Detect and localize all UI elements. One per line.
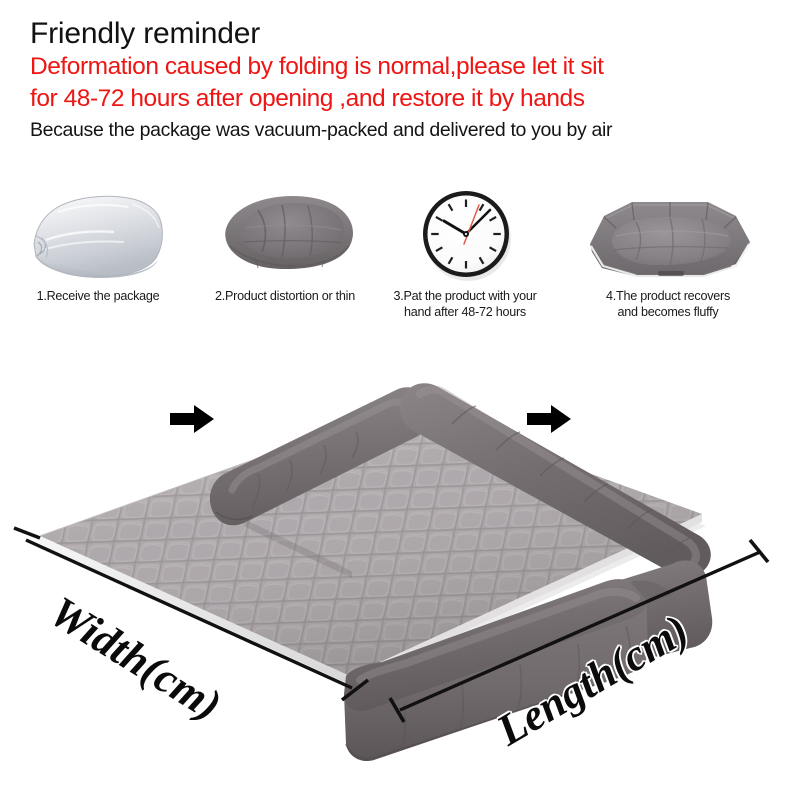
wall-clock-icon xyxy=(418,182,514,286)
header-text-block: Friendly reminder Deformation caused by … xyxy=(30,16,775,143)
vacuum-packed-bag-icon xyxy=(28,190,170,282)
step-4-caption-line-2: and becomes fluffy xyxy=(562,305,774,321)
step-1-receive-package: 1.Receive the package xyxy=(14,182,182,305)
step-4-illustration xyxy=(562,182,774,286)
step-4-product-recovers: 4.The product recovers and becomes fluff… xyxy=(562,182,774,320)
step-2-caption: 2.Product distortion or thin xyxy=(196,289,374,305)
step-1-caption: 1.Receive the package xyxy=(14,289,182,305)
step-4-caption-line-1: 4.The product recovers xyxy=(562,289,774,305)
step-1-illustration xyxy=(14,182,182,286)
steps-row: 1.Receive the package xyxy=(0,182,800,330)
step-3-illustration xyxy=(382,182,548,286)
step-2-product-distortion: 2.Product distortion or thin xyxy=(196,182,374,305)
product-hero-image xyxy=(0,350,800,800)
deflated-pet-bed-icon xyxy=(216,188,358,284)
step-3-caption: 3.Pat the product with your hand after 4… xyxy=(382,289,548,320)
header-note: Because the package was vacuum-packed an… xyxy=(30,118,775,143)
warning-line-2: for 48-72 hours after opening ,and resto… xyxy=(30,83,775,114)
step-3-caption-line-1: 3.Pat the product with your xyxy=(382,289,548,305)
step-3-pat-product: 3.Pat the product with your hand after 4… xyxy=(382,182,548,320)
step-4-caption: 4.The product recovers and becomes fluff… xyxy=(562,289,774,320)
step-3-caption-line-2: hand after 48-72 hours xyxy=(382,305,548,321)
warning-line-1: Deformation caused by folding is normal,… xyxy=(30,51,775,82)
product-infographic-page: Friendly reminder Deformation caused by … xyxy=(0,0,800,800)
page-title: Friendly reminder xyxy=(30,16,775,51)
fluffy-pet-bed-icon xyxy=(584,188,756,284)
step-2-illustration xyxy=(196,182,374,286)
